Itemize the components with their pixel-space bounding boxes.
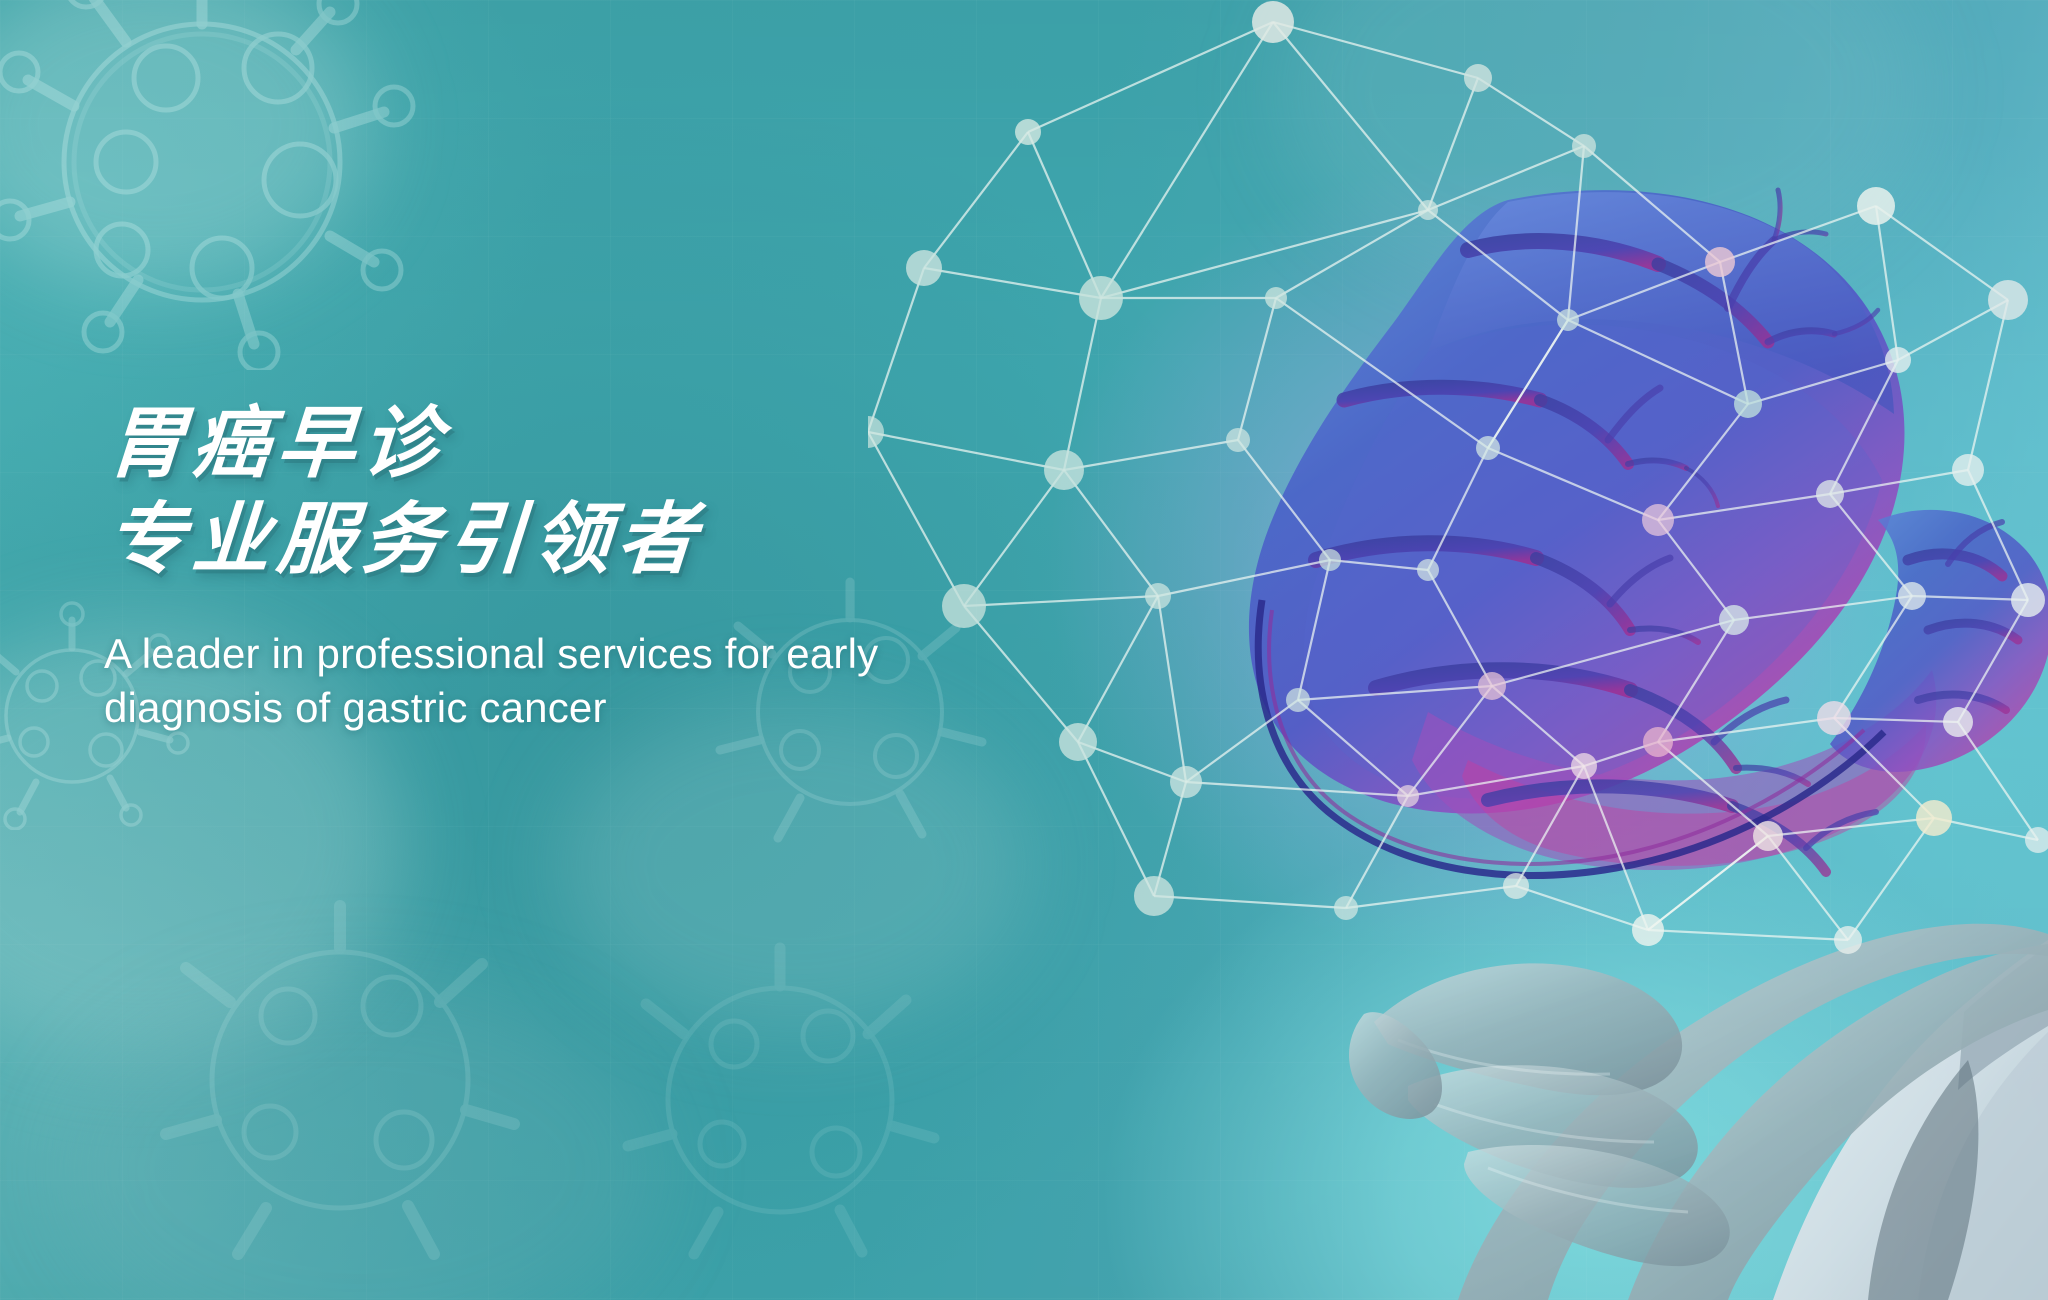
subtitle-en-line-2: diagnosis of gastric cancer [104, 681, 944, 735]
virus-watermark-bottom-left [130, 880, 550, 1280]
hand-illustration [1349, 924, 2048, 1300]
virus-watermark-top-left [0, 0, 430, 370]
subtitle-en: A leader in professional services for ea… [104, 627, 944, 735]
headline-cn-line-2: 专业服务引领者 [104, 494, 1110, 584]
headline-cn-line-1: 胃癌早诊 [104, 398, 1110, 488]
hero-banner: 胃癌早诊 专业服务引领者 A leader in professional se… [0, 0, 2048, 1300]
subtitle-en-line-1: A leader in professional services for ea… [104, 627, 944, 681]
hero-copy: 胃癌早诊 专业服务引领者 A leader in professional se… [104, 398, 1104, 734]
